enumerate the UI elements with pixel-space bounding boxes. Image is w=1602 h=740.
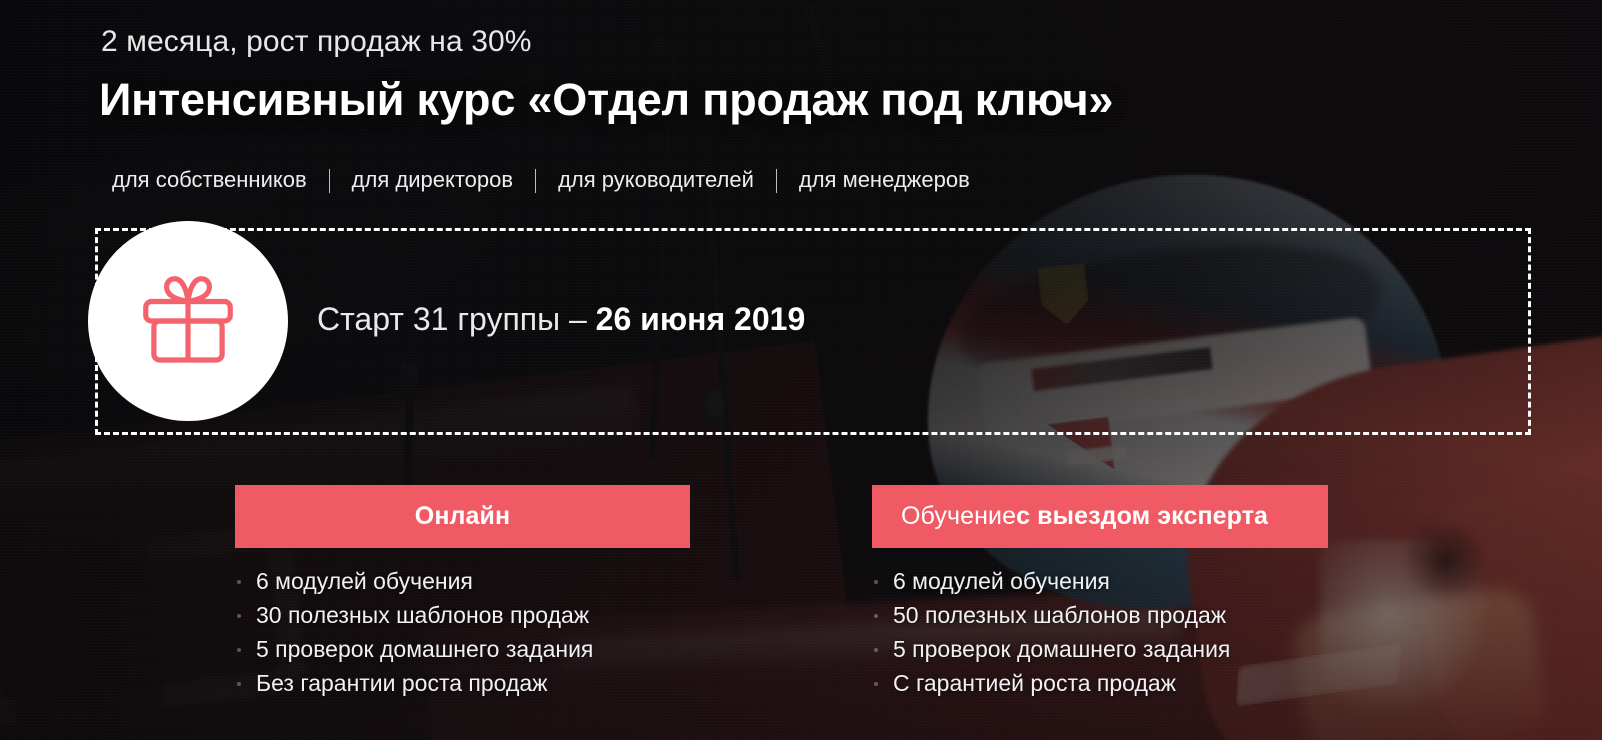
- promo-start-date: Старт 31 группы – 26 июня 2019: [317, 301, 805, 338]
- list-item: Без гарантии роста продаж: [235, 666, 690, 700]
- page-title: Интенсивный курс «Отдел продаж под ключ»: [99, 74, 1113, 126]
- audience-list: для собственников для директоров для рук…: [110, 167, 972, 193]
- list-item: 5 проверок домашнего задания: [872, 632, 1328, 666]
- promo-start-label: Старт 31 группы –: [317, 301, 596, 337]
- hero-kicker: 2 месяца, рост продаж на 30%: [101, 25, 532, 59]
- hero-banner: 2 месяца, рост продаж на 30% Интенсивный…: [0, 0, 1602, 740]
- plan-onsite-button[interactable]: Обучение с выездом эксперта: [872, 485, 1328, 548]
- plan-online-button[interactable]: Онлайн: [235, 485, 690, 548]
- plan-online-features: 6 модулей обучения 30 полезных шаблонов …: [235, 564, 690, 700]
- list-item: 6 модулей обучения: [235, 564, 690, 598]
- plan-onsite-button-label-strong: с выездом эксперта: [1016, 502, 1268, 531]
- plan-online: Онлайн 6 модулей обучения 30 полезных ша…: [235, 485, 690, 700]
- list-item: С гарантией роста продаж: [872, 666, 1328, 700]
- list-item: 30 полезных шаблонов продаж: [235, 598, 690, 632]
- plan-onsite: Обучение с выездом эксперта 6 модулей об…: [872, 485, 1328, 700]
- audience-item-owners: для собственников: [110, 167, 309, 193]
- list-item: 5 проверок домашнего задания: [235, 632, 690, 666]
- promo-banner: Старт 31 группы – 26 июня 2019: [95, 228, 1531, 435]
- gift-icon: [136, 269, 240, 373]
- audience-separator-2: [535, 169, 536, 193]
- gift-badge: [88, 221, 288, 421]
- plan-onsite-features: 6 модулей обучения 50 полезных шаблонов …: [872, 564, 1328, 700]
- plan-onsite-button-label-light: Обучение: [901, 502, 1016, 531]
- promo-start-date-value: 26 июня 2019: [596, 301, 806, 337]
- audience-item-managers: для менеджеров: [797, 167, 972, 193]
- audience-separator-1: [329, 169, 330, 193]
- audience-item-directors: для директоров: [350, 167, 515, 193]
- list-item: 6 модулей обучения: [872, 564, 1328, 598]
- hero-content: 2 месяца, рост продаж на 30% Интенсивный…: [0, 0, 1602, 740]
- promo-banner-inner: Старт 31 группы – 26 июня 2019: [98, 231, 1528, 432]
- list-item: 50 полезных шаблонов продаж: [872, 598, 1328, 632]
- audience-separator-3: [776, 169, 777, 193]
- audience-item-managers-senior: для руководителей: [556, 167, 756, 193]
